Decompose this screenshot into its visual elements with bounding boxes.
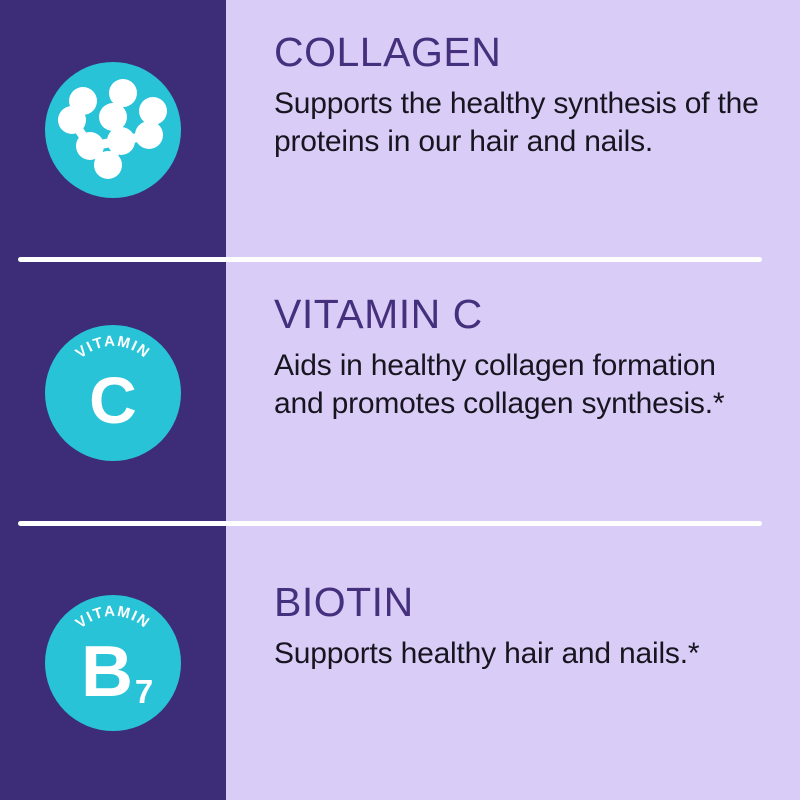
collagen-text-cell: COLLAGEN Supports the healthy synthesis …	[226, 0, 800, 161]
vitamin-c-arc-label: VITAMIN	[72, 332, 153, 361]
section-body-collagen: Supports the healthy synthesis of the pr…	[274, 85, 760, 161]
vitamin-b7-subscript: 7	[135, 673, 153, 710]
vitamin-b7-arc-label: VITAMIN	[72, 603, 153, 632]
collagen-icon-cell	[0, 0, 226, 259]
section-collagen: COLLAGEN Supports the healthy synthesis …	[0, 0, 800, 259]
section-heading-collagen: COLLAGEN	[274, 32, 760, 73]
section-body-biotin: Supports healthy hair and nails.*	[274, 635, 760, 673]
vitamin-c-text-cell: VITAMIN C Aids in healthy collagen forma…	[226, 262, 800, 423]
biotin-icon-cell: VITAMIN B 7	[0, 526, 226, 800]
biotin-text-cell: BIOTIN Supports healthy hair and nails.*	[226, 526, 800, 673]
vitamin-c-badge-icon: VITAMIN C	[45, 325, 181, 461]
vitamin-c-letter: C	[89, 363, 137, 437]
vitamin-b7-letter: B	[81, 632, 133, 712]
vitamin-c-icon-cell: VITAMIN C	[0, 262, 226, 523]
section-heading-biotin: BIOTIN	[274, 582, 760, 623]
section-vitamin-c: VITAMIN C VITAMIN C Aids in healthy coll…	[0, 262, 800, 523]
vitamin-b7-badge-icon: VITAMIN B 7	[45, 595, 181, 731]
ingredient-benefits-infographic: COLLAGEN Supports the healthy synthesis …	[0, 0, 800, 800]
section-heading-vitamin-c: VITAMIN C	[274, 294, 760, 335]
section-biotin: VITAMIN B 7 BIOTIN Supports healthy hair…	[0, 526, 800, 800]
collagen-molecule-icon	[45, 62, 181, 198]
section-body-vitamin-c: Aids in healthy collagen formation and p…	[274, 347, 760, 423]
